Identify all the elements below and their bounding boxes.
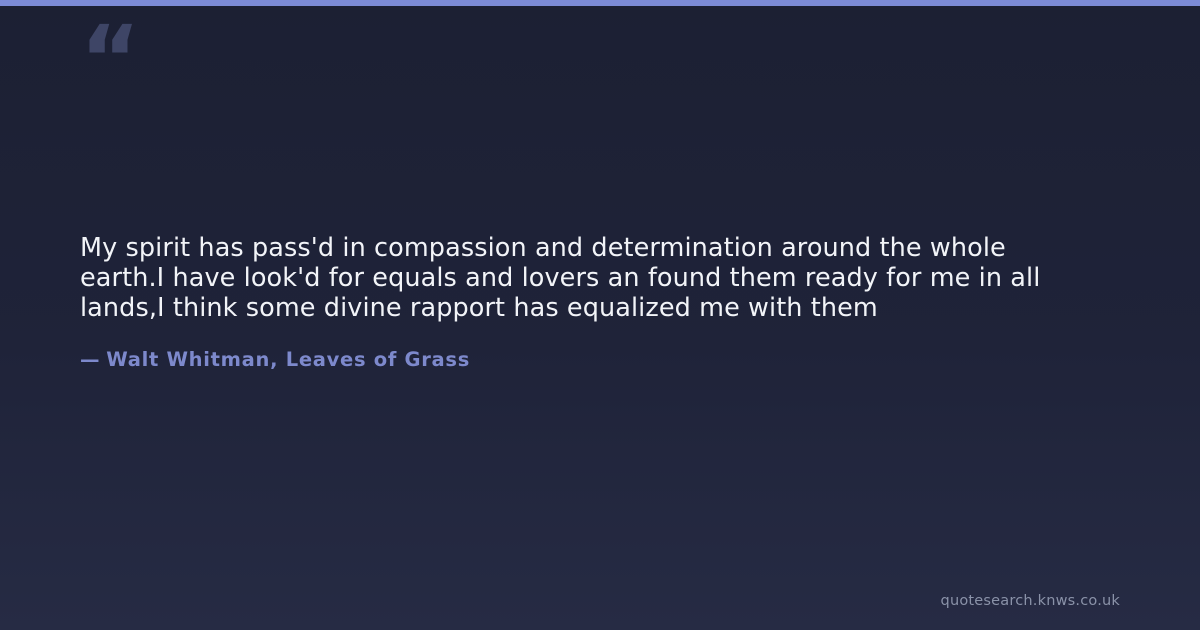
attribution-em-dash: — [80,348,100,371]
source-url-label: quotesearch.knws.co.uk [941,593,1120,609]
quote-body: My spirit has pass'd in compassion and d… [80,233,1085,323]
quote-attribution: —Walt Whitman, Leaves of Grass [80,348,470,371]
attribution-label: Walt Whitman, Leaves of Grass [106,348,470,371]
quote-content: “ My spirit has pass'd in compassion and… [80,0,1120,630]
quote-text: My spirit has pass'd in compassion and d… [80,233,1085,323]
open-quotation-mark-icon: “ [80,14,138,106]
quote-card: “ My spirit has pass'd in compassion and… [0,0,1200,630]
